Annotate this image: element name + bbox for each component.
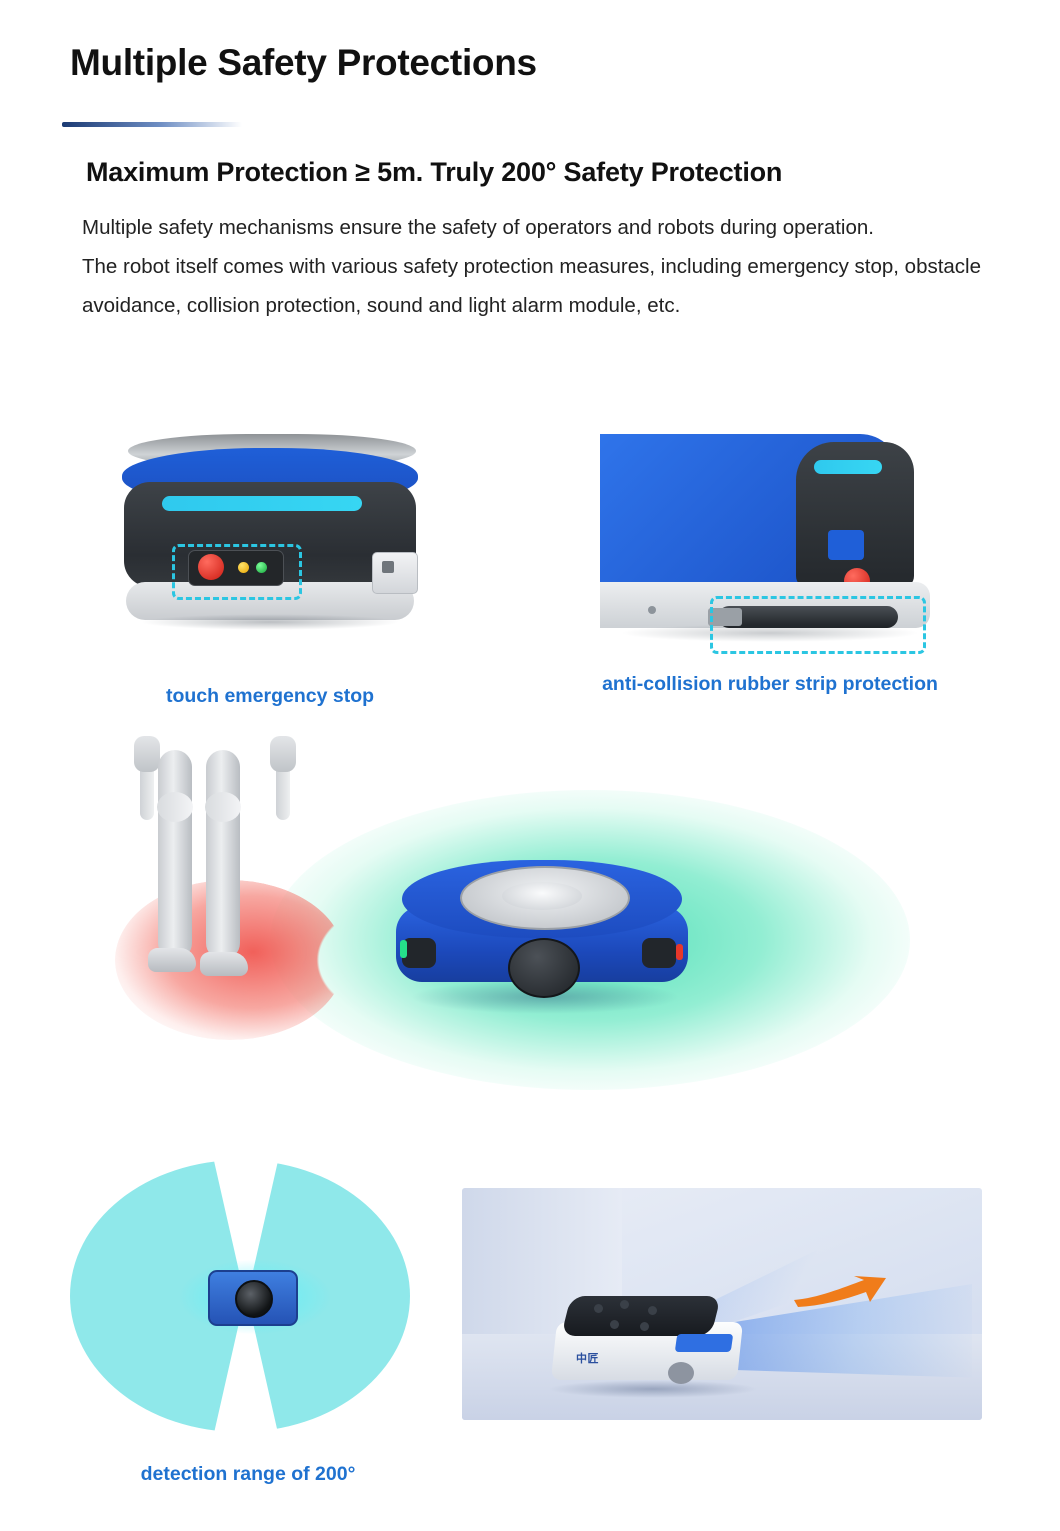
- robot-bumper-right: [642, 938, 676, 968]
- robot-top-sensor-3-icon: [648, 1306, 657, 1315]
- figure-anti-collision-rubber-strip: [600, 424, 940, 660]
- mannequin-hand-left: [134, 736, 160, 772]
- robot-top-view-illustration: [380, 860, 720, 1020]
- mannequin-knee-left: [157, 792, 193, 822]
- lidar-lens-icon: [235, 1280, 273, 1318]
- mannequin-foot-left: [148, 948, 196, 972]
- figure-detection-range: [60, 1152, 440, 1442]
- robot-front-illustration: [120, 434, 420, 634]
- section-body-copy: Multiple safety mechanisms ensure the sa…: [82, 208, 982, 325]
- mannequin-knee-right: [205, 792, 241, 822]
- body-paragraph-1: Multiple safety mechanisms ensure the sa…: [82, 208, 982, 247]
- robot-bumper-left: [402, 938, 436, 968]
- page-root: Multiple Safety Protections Maximum Prot…: [0, 0, 1060, 1531]
- rubber-strip-highlight-box: [710, 596, 926, 654]
- status-led-green-icon: [400, 940, 407, 958]
- robot-top-sensor-2-icon: [620, 1300, 629, 1309]
- robot-top-sensor-4-icon: [610, 1320, 619, 1329]
- robot-blue-accent-panel: [675, 1334, 734, 1352]
- robot-top-sensor-1-icon: [594, 1304, 603, 1313]
- base-sensor-dot-icon: [648, 606, 656, 614]
- robot-ground-shadow: [548, 1380, 758, 1398]
- caption-anti-collision-rubber-strip: anti-collision rubber strip protection: [590, 672, 950, 697]
- human-legs-illustration: [120, 730, 310, 1000]
- mannequin-foot-right: [200, 952, 248, 976]
- robot-brand-logo: 中匠: [576, 1350, 599, 1366]
- page-title: Multiple Safety Protections: [70, 42, 537, 84]
- robot-side-port-panel: [372, 552, 418, 594]
- mannequin-leg-right: [206, 750, 240, 960]
- robot-tower-light-bar: [814, 460, 882, 474]
- mannequin-leg-left: [158, 750, 192, 960]
- robot-wheel: [668, 1362, 694, 1384]
- mannequin-hand-right: [270, 736, 296, 772]
- body-paragraph-2: The robot itself comes with various safe…: [82, 247, 982, 325]
- robot-brush-hub: [502, 882, 582, 910]
- emergency-stop-highlight-box: [172, 544, 302, 600]
- robot-ground-shadow: [140, 614, 400, 630]
- direction-arrow-icon: [792, 1274, 888, 1308]
- lidar-sensor-icon: [508, 938, 580, 998]
- robot-light-bar: [162, 496, 363, 511]
- figure-room-scan-render: 中匠: [462, 1188, 982, 1420]
- figure-touch-emergency-stop: [110, 424, 430, 642]
- robot-top-sensor-5-icon: [640, 1322, 649, 1331]
- caption-detection-range: detection range of 200°: [38, 1462, 458, 1487]
- status-led-red-icon: [676, 944, 683, 960]
- figure-safety-field-scan: [60, 730, 980, 1130]
- section-subtitle: Maximum Protection ≥ 5m. Truly 200° Safe…: [86, 157, 782, 188]
- robot-tower-blue-block: [828, 530, 864, 560]
- caption-touch-emergency-stop: touch emergency stop: [110, 684, 430, 709]
- title-underline-rule: [62, 122, 242, 127]
- robot-render: 中匠: [548, 1296, 758, 1400]
